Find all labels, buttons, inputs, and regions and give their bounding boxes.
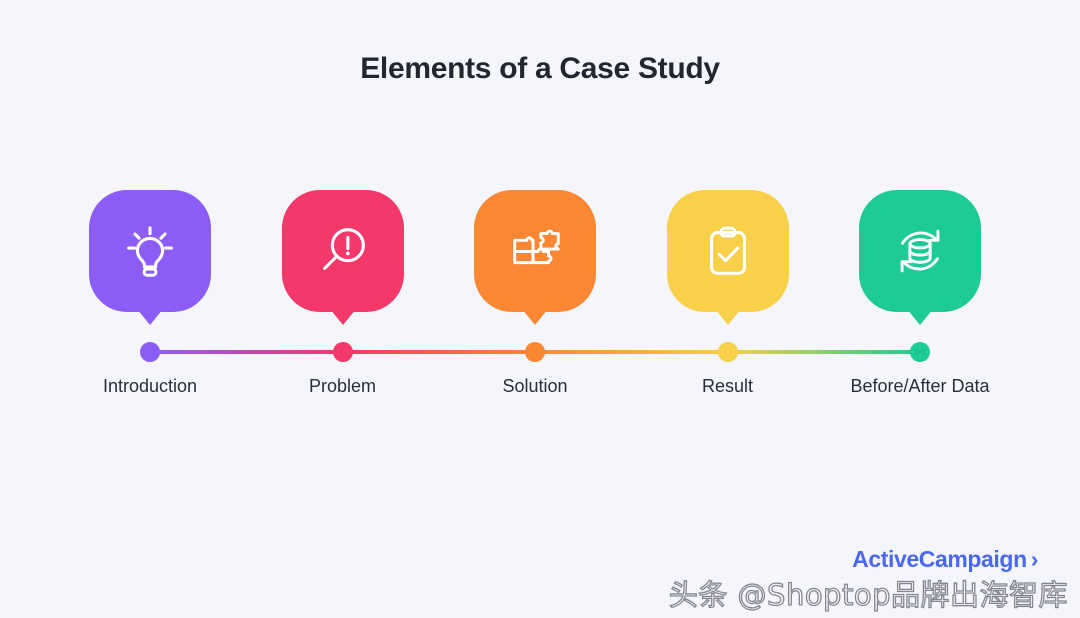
timeline-rail-segment [728,350,921,354]
database-refresh-icon [889,220,951,282]
timeline-label-result: Result [628,376,828,397]
timeline-dot-solution [525,342,545,362]
brand-name: ActiveCampaign [852,546,1027,572]
timeline-label-problem: Problem [243,376,443,397]
clipboard-check-icon [697,220,759,282]
timeline-step-solution[interactable]: Solution [435,190,635,312]
timeline: Introduction Problem [0,190,1080,420]
timeline-label-introduction: Introduction [50,376,250,397]
timeline-label-before-after-data: Before/After Data [820,376,1020,397]
timeline-step-result[interactable]: Result [628,190,828,312]
activecampaign-logo[interactable]: ActiveCampaign› [852,546,1038,573]
icon-bubble-solution [474,190,596,312]
timeline-step-introduction[interactable]: Introduction [50,190,250,312]
lightbulb-icon [119,220,181,282]
timeline-rail-segment [343,350,536,354]
icon-bubble-before-after-data [859,190,981,312]
icon-bubble-introduction [89,190,211,312]
timeline-rail-segment [535,350,728,354]
timeline-dot-before-after-data [910,342,930,362]
watermark: 头条 @Shoptop品牌出海智库 [669,572,1068,614]
timeline-dot-introduction [140,342,160,362]
timeline-dot-result [718,342,738,362]
page-title: Elements of a Case Study [0,52,1080,86]
icon-bubble-result [667,190,789,312]
puzzle-pieces-icon [504,220,566,282]
magnifier-alert-icon [312,220,374,282]
infographic-slide: Elements of a Case Study [0,0,1080,618]
timeline-step-before-after-data[interactable]: Before/After Data [820,190,1020,312]
timeline-step-problem[interactable]: Problem [243,190,443,312]
timeline-rail-segment [150,350,343,354]
chevron-right-icon: › [1031,546,1038,573]
timeline-dot-problem [333,342,353,362]
icon-bubble-problem [282,190,404,312]
timeline-label-solution: Solution [435,376,635,397]
